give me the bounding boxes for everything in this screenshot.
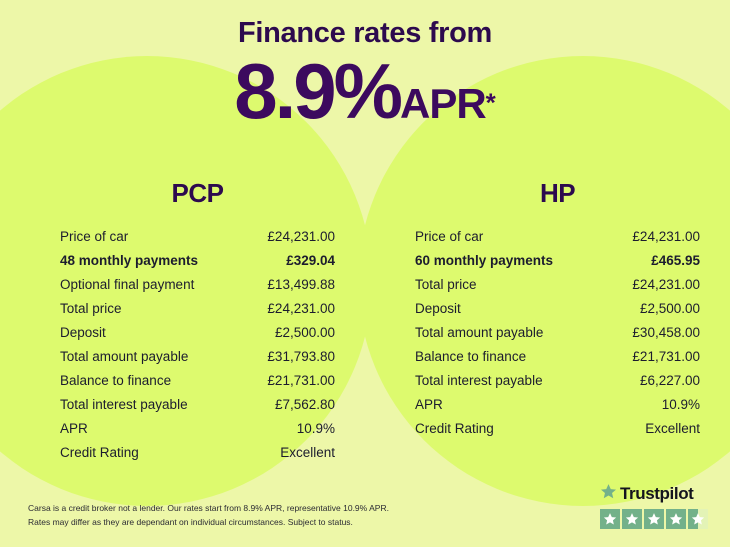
plan-row-label: Deposit — [60, 321, 106, 345]
plan-title-hp: HP — [415, 178, 700, 209]
plan-row-label: Optional final payment — [60, 273, 194, 297]
rate-unit: APR — [400, 80, 486, 127]
trustpilot-star-full — [666, 509, 686, 529]
plan-row-value: £24,231.00 — [267, 225, 335, 249]
plan-row: Optional final payment£13,499.88 — [60, 273, 335, 297]
plan-row-value: £21,731.00 — [632, 345, 700, 369]
plan-row-value: £6,227.00 — [640, 369, 700, 393]
plan-row-value: £24,231.00 — [632, 225, 700, 249]
plan-row-label: Credit Rating — [415, 417, 494, 441]
plan-row-value: £30,458.00 — [632, 321, 700, 345]
plan-row: Total price£24,231.00 — [60, 297, 335, 321]
finance-rates-banner: Finance rates from 8.9%APR* PCP Price of… — [0, 0, 730, 547]
plan-row: Total interest payable£7,562.80 — [60, 393, 335, 417]
plan-rows-hp: Price of car£24,231.0060 monthly payment… — [415, 225, 700, 441]
plan-row: Credit RatingExcellent — [415, 417, 700, 441]
plan-row-label: Price of car — [415, 225, 483, 249]
plan-row-value: £31,793.80 — [267, 345, 335, 369]
plan-row-value: Excellent — [645, 417, 700, 441]
plan-row-value: 10.9% — [297, 417, 335, 441]
plan-column-pcp: PCP Price of car£24,231.0048 monthly pay… — [0, 178, 365, 465]
plan-column-hp: HP Price of car£24,231.0060 monthly paym… — [365, 178, 730, 465]
plan-row-label: Deposit — [415, 297, 461, 321]
disclaimer: Carsa is a credit broker not a lender. O… — [28, 501, 458, 529]
plan-row-label: Total amount payable — [415, 321, 543, 345]
plan-row: 48 monthly payments£329.04 — [60, 249, 335, 273]
plan-row-label: Total interest payable — [415, 369, 543, 393]
disclaimer-line-1: Carsa is a credit broker not a lender. O… — [28, 501, 458, 515]
plan-row-label: Price of car — [60, 225, 128, 249]
plan-row-label: APR — [415, 393, 443, 417]
plan-row-label: 60 monthly payments — [415, 249, 553, 273]
plan-row-value: £329.04 — [286, 249, 335, 273]
plan-row-value: £24,231.00 — [267, 297, 335, 321]
plan-row: Deposit£2,500.00 — [60, 321, 335, 345]
trustpilot-star-full — [622, 509, 642, 529]
plan-row-label: Credit Rating — [60, 441, 139, 465]
plan-row-label: APR — [60, 417, 88, 441]
trustpilot-wordmark: Trustpilot — [600, 483, 712, 505]
plan-row-value: £7,562.80 — [275, 393, 335, 417]
plan-row-label: 48 monthly payments — [60, 249, 198, 273]
plan-row: Deposit£2,500.00 — [415, 297, 700, 321]
disclaimer-line-2: Rates may differ as they are dependant o… — [28, 515, 458, 529]
plan-row-value: £2,500.00 — [275, 321, 335, 345]
trustpilot-star-half — [688, 509, 708, 529]
plan-title-pcp: PCP — [60, 178, 335, 209]
plan-row-label: Total price — [415, 273, 477, 297]
plan-row: Total interest payable£6,227.00 — [415, 369, 700, 393]
plan-row-value: £13,499.88 — [267, 273, 335, 297]
plan-row-value: Excellent — [280, 441, 335, 465]
plan-row: 60 monthly payments£465.95 — [415, 249, 700, 273]
plan-row: APR10.9% — [415, 393, 700, 417]
plan-row-label: Balance to finance — [60, 369, 171, 393]
plan-row-label: Total interest payable — [60, 393, 188, 417]
rate-line: 8.9%APR* — [0, 52, 730, 130]
plan-row: Balance to finance£21,731.00 — [60, 369, 335, 393]
plan-row-value: 10.9% — [662, 393, 700, 417]
headline: Finance rates from — [0, 18, 730, 50]
plan-row: Balance to finance£21,731.00 — [415, 345, 700, 369]
plan-row-label: Total price — [60, 297, 122, 321]
trustpilot-star-icon — [600, 483, 617, 505]
plan-rows-pcp: Price of car£24,231.0048 monthly payment… — [60, 225, 335, 465]
trustpilot-star-full — [644, 509, 664, 529]
rate-asterisk: * — [486, 88, 496, 118]
plan-row-value: £24,231.00 — [632, 273, 700, 297]
trustpilot-rating-stars — [600, 509, 712, 529]
plan-row: Price of car£24,231.00 — [60, 225, 335, 249]
plan-row-value: £2,500.00 — [640, 297, 700, 321]
plan-row: Credit RatingExcellent — [60, 441, 335, 465]
banner-header: Finance rates from 8.9%APR* — [0, 0, 730, 130]
rate-value: 8.9% — [234, 47, 400, 135]
plan-row-label: Total amount payable — [60, 345, 188, 369]
plan-row-label: Balance to finance — [415, 345, 526, 369]
plan-row: Total price£24,231.00 — [415, 273, 700, 297]
plan-row: APR10.9% — [60, 417, 335, 441]
plan-row-value: £465.95 — [651, 249, 700, 273]
plan-row: Total amount payable£30,458.00 — [415, 321, 700, 345]
trustpilot-star-full — [600, 509, 620, 529]
trustpilot-badge[interactable]: Trustpilot — [600, 483, 712, 529]
plans-comparison: PCP Price of car£24,231.0048 monthly pay… — [0, 178, 730, 465]
plan-row-value: £21,731.00 — [267, 369, 335, 393]
trustpilot-name: Trustpilot — [620, 484, 693, 504]
plan-row: Price of car£24,231.00 — [415, 225, 700, 249]
plan-row: Total amount payable£31,793.80 — [60, 345, 335, 369]
